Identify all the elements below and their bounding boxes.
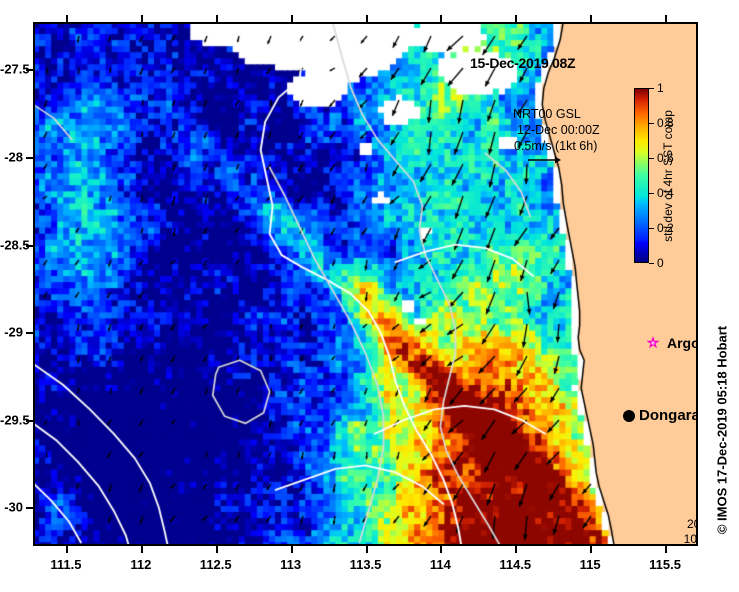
right-arrow-icon	[527, 155, 561, 165]
x-tick	[366, 546, 368, 553]
x-tick-label: 113.5	[350, 557, 382, 572]
y-tick	[26, 157, 33, 159]
colorbar-title: std dev of 4hr SST comp	[661, 110, 675, 242]
y-tick-label: -29	[0, 325, 23, 340]
city-dot-marker	[623, 410, 635, 422]
annotation-line-2: 12-Dec 00:00Z	[513, 122, 600, 138]
colorbar-tick	[649, 123, 654, 124]
colorbar-ticks: 00.20.40.60.81	[634, 88, 649, 263]
argo-legend-label: Argo	[667, 335, 698, 351]
x-tick-label: 115	[580, 557, 601, 572]
annotation-line-3: 0.5m/s (1kt 6h)	[513, 138, 600, 154]
x-tick-top	[515, 15, 517, 22]
x-tick-label: 111.5	[50, 557, 81, 572]
dongara-label: Dongara	[639, 407, 698, 424]
x-tick	[665, 546, 667, 553]
y-tick	[26, 507, 33, 509]
scalebar-lower-label: 1000m	[673, 532, 698, 546]
colorbar-tick	[649, 228, 654, 229]
x-tick-top	[216, 15, 218, 22]
current-reference-annotation: NRT00 GSL 12-Dec 00:00Z 0.5m/s (1kt 6h)	[513, 106, 600, 154]
x-tick	[590, 546, 592, 553]
y-tick-label: -27.5	[0, 62, 23, 77]
colorbar-tick-label: 0	[657, 256, 664, 270]
colorbar-tick	[649, 263, 654, 264]
y-tick-label: -28	[0, 149, 23, 164]
map-title: 15-Dec-2019 08Z	[470, 55, 575, 71]
dongara-place-marker: Dongara	[623, 407, 698, 424]
colorbar-tick	[649, 193, 654, 194]
scalebar-upper-label: 200m	[673, 517, 698, 532]
x-tick-label: 114.5	[499, 557, 531, 572]
x-tick-label: 112.5	[200, 557, 232, 572]
colorbar-tick-label: 1	[657, 81, 664, 95]
x-tick	[440, 546, 442, 553]
y-tick	[26, 332, 33, 334]
x-tick	[515, 546, 517, 553]
x-tick	[66, 546, 68, 553]
x-tick-label: 115.5	[649, 557, 681, 572]
map-plot-area[interactable]: 15-Dec-2019 08Z NRT00 GSL 12-Dec 00:00Z …	[33, 22, 698, 546]
argo-legend: Argo	[646, 335, 698, 351]
x-tick-top	[66, 15, 68, 22]
x-tick-top	[366, 15, 368, 22]
x-tick-top	[141, 15, 143, 22]
bathymetry-scale-legend: 200m 1000m	[673, 517, 698, 546]
x-tick-label: 113	[280, 557, 301, 572]
colorbar-tick	[649, 88, 654, 89]
x-tick-top	[665, 15, 667, 22]
x-tick	[216, 546, 218, 553]
x-tick-label: 114	[430, 557, 451, 572]
colorbar-tick	[649, 158, 654, 159]
x-tick-top	[590, 15, 592, 22]
x-tick-top	[440, 15, 442, 22]
y-tick-label: -28.5	[0, 237, 23, 252]
x-tick	[291, 546, 293, 553]
x-tick-label: 112	[130, 557, 151, 572]
x-tick	[141, 546, 143, 553]
figure-canvas: 15-Dec-2019 08Z NRT00 GSL 12-Dec 00:00Z …	[0, 0, 739, 592]
x-tick-top	[291, 15, 293, 22]
y-tick-label: -29.5	[0, 412, 23, 427]
copyright-notice: © IMOS 17-Dec-2019 05:18 Hobart	[715, 326, 730, 534]
y-tick-label: -30	[0, 500, 23, 515]
argo-float-marker	[646, 336, 660, 350]
annotation-line-1: NRT00 GSL	[513, 106, 600, 122]
coastline-and-land-overlay	[33, 22, 698, 546]
